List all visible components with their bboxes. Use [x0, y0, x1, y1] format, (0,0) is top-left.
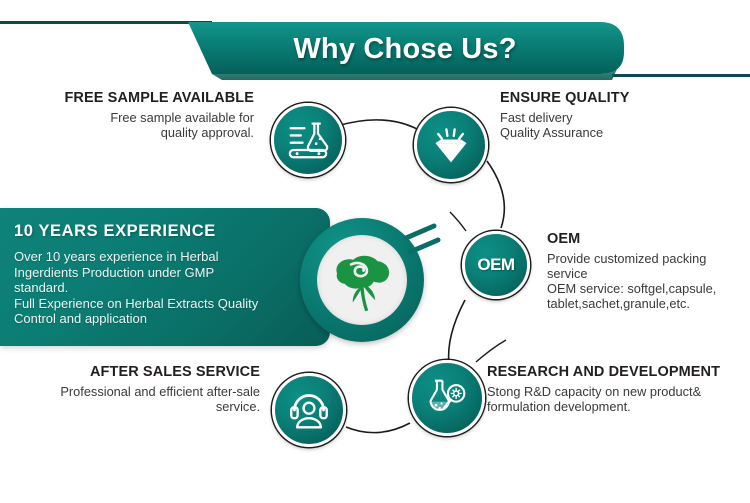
diamond-quality-icon: [429, 124, 473, 166]
feature-oem: OEM Provide customized packing service O…: [547, 231, 747, 311]
icon-circle-after-sales[interactable]: [272, 373, 346, 447]
icon-circle-ensure-quality[interactable]: [414, 108, 488, 182]
feature-line-1: Professional and efficient after-sale: [12, 384, 260, 399]
center-logo-disc[interactable]: [317, 235, 407, 325]
feature-title-oem: OEM: [547, 231, 747, 247]
panel-line-5: Control and application: [14, 311, 312, 327]
panel-ten-years-experience[interactable]: 10 YEARS EXPERIENCE Over 10 years experi…: [0, 208, 330, 346]
feature-research-development: RESEARCH AND DEVELOPMENT Stong R&D capac…: [487, 364, 749, 414]
oem-badge-label: OEM: [477, 255, 514, 275]
feature-line-2: formulation development.: [487, 399, 749, 414]
feature-line-2: quality approval.: [14, 125, 254, 140]
headset-support-icon: [288, 390, 330, 430]
feature-free-sample: FREE SAMPLE AVAILABLE Free sample availa…: [14, 90, 254, 140]
icon-circle-research-development[interactable]: [409, 360, 485, 436]
flask-sample-icon: [286, 120, 330, 160]
panel-line-2: Ingerdients Production under GMP: [14, 265, 312, 281]
feature-line-2: Quality Assurance: [500, 125, 740, 140]
feature-ensure-quality: ENSURE QUALITY Fast delivery Quality Ass…: [500, 90, 740, 140]
feature-title-after-sales: AFTER SALES SERVICE: [12, 364, 260, 380]
feature-title-ensure-quality: ENSURE QUALITY: [500, 90, 740, 106]
feature-title-free-sample: FREE SAMPLE AVAILABLE: [14, 90, 254, 106]
feature-title-research-development: RESEARCH AND DEVELOPMENT: [487, 364, 749, 380]
icon-circle-oem[interactable]: OEM: [462, 231, 530, 299]
feature-line-3: OEM service: softgel,capsule,: [547, 281, 747, 296]
feature-line-4: tablet,sachet,granule,etc.: [547, 296, 747, 311]
feature-line-2: service: [547, 266, 747, 281]
feature-line-1: Stong R&D capacity on new product&: [487, 384, 749, 399]
panel-line-3: standard.: [14, 280, 312, 296]
panel-title: 10 YEARS EXPERIENCE: [14, 222, 312, 241]
feature-line-1: Provide customized packing: [547, 251, 747, 266]
logo-accent-stripes: [400, 222, 446, 262]
icon-circle-free-sample[interactable]: [271, 103, 345, 177]
panel-line-4: Full Experience on Herbal Extracts Quali…: [14, 296, 312, 312]
flask-microscope-icon: [425, 377, 469, 419]
feature-after-sales: AFTER SALES SERVICE Professional and eff…: [12, 364, 260, 414]
green-leaf-company-logo: [323, 241, 401, 319]
panel-line-1: Over 10 years experience in Herbal: [14, 249, 312, 265]
feature-line-2: service.: [12, 399, 260, 414]
feature-line-1: Free sample available for: [14, 110, 254, 125]
feature-line-1: Fast delivery: [500, 110, 740, 125]
infographic-canvas: Why Chose Us? 10 YEARS EXPERIENCE: [0, 0, 750, 503]
